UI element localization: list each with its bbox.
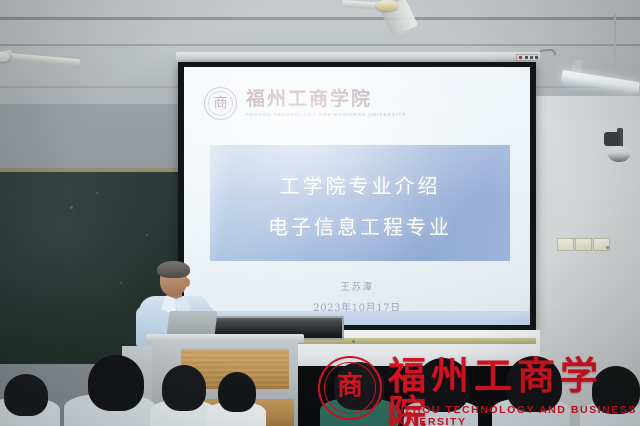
camera-housing xyxy=(604,132,620,146)
slide-header-logo: 商 福州工商学院 FUZHOU TECHNOLOGY AND BUSINESS … xyxy=(204,87,406,120)
speaker-ear xyxy=(184,278,190,287)
wall-outlet[interactable] xyxy=(593,238,610,251)
ledge-screw xyxy=(352,340,355,343)
audience-head xyxy=(416,358,470,412)
slide-title-line-1: 工学院专业介绍 xyxy=(210,170,510,199)
university-seal-icon: 商 xyxy=(204,87,237,120)
slide-title-band: 工学院专业介绍 电子信息工程专业 xyxy=(210,145,510,261)
slide-presenter-name: 王苏潭 xyxy=(184,279,530,293)
slide-title-line-2: 电子信息工程专业 xyxy=(210,211,510,240)
lecture-hall-photo: 商 福州工商学院 FUZHOU TECHNOLOGY AND BUSINESS … xyxy=(0,0,640,426)
seal-glyph: 商 xyxy=(205,96,236,110)
audience-head xyxy=(592,366,640,414)
fan-hub xyxy=(376,0,398,11)
chalk-mark xyxy=(70,206,73,209)
chalk-mark xyxy=(96,192,98,194)
audience-head xyxy=(162,365,206,411)
ceiling-beam xyxy=(0,17,640,20)
speaker-hair xyxy=(157,261,190,278)
audience-head xyxy=(334,362,384,410)
chalk-mark xyxy=(120,282,122,284)
audience-head xyxy=(4,374,48,416)
audience-head xyxy=(88,355,144,411)
security-camera-icon xyxy=(608,146,630,162)
light-suspension-rod xyxy=(614,14,616,72)
audience-head xyxy=(218,372,256,412)
roller-label xyxy=(516,54,538,61)
slide-university-block: 福州工商学院 FUZHOU TECHNOLOGY AND BUSINESS UN… xyxy=(246,90,406,117)
chalk-mark xyxy=(146,234,148,236)
wall-switch[interactable] xyxy=(575,238,592,251)
wall-mark xyxy=(606,246,609,249)
ceiling-seam xyxy=(0,44,640,46)
slide-university-name-en: FUZHOU TECHNOLOGY AND BUSINESS UNIVERSIT… xyxy=(246,112,406,117)
audience-head xyxy=(506,356,562,412)
wall-switch[interactable] xyxy=(557,238,574,251)
projected-slide: 商 福州工商学院 FUZHOU TECHNOLOGY AND BUSINESS … xyxy=(184,67,530,325)
projection-screen-frame: 商 福州工商学院 FUZHOU TECHNOLOGY AND BUSINESS … xyxy=(178,62,536,330)
slide-university-name-cn: 福州工商学院 xyxy=(246,90,406,110)
